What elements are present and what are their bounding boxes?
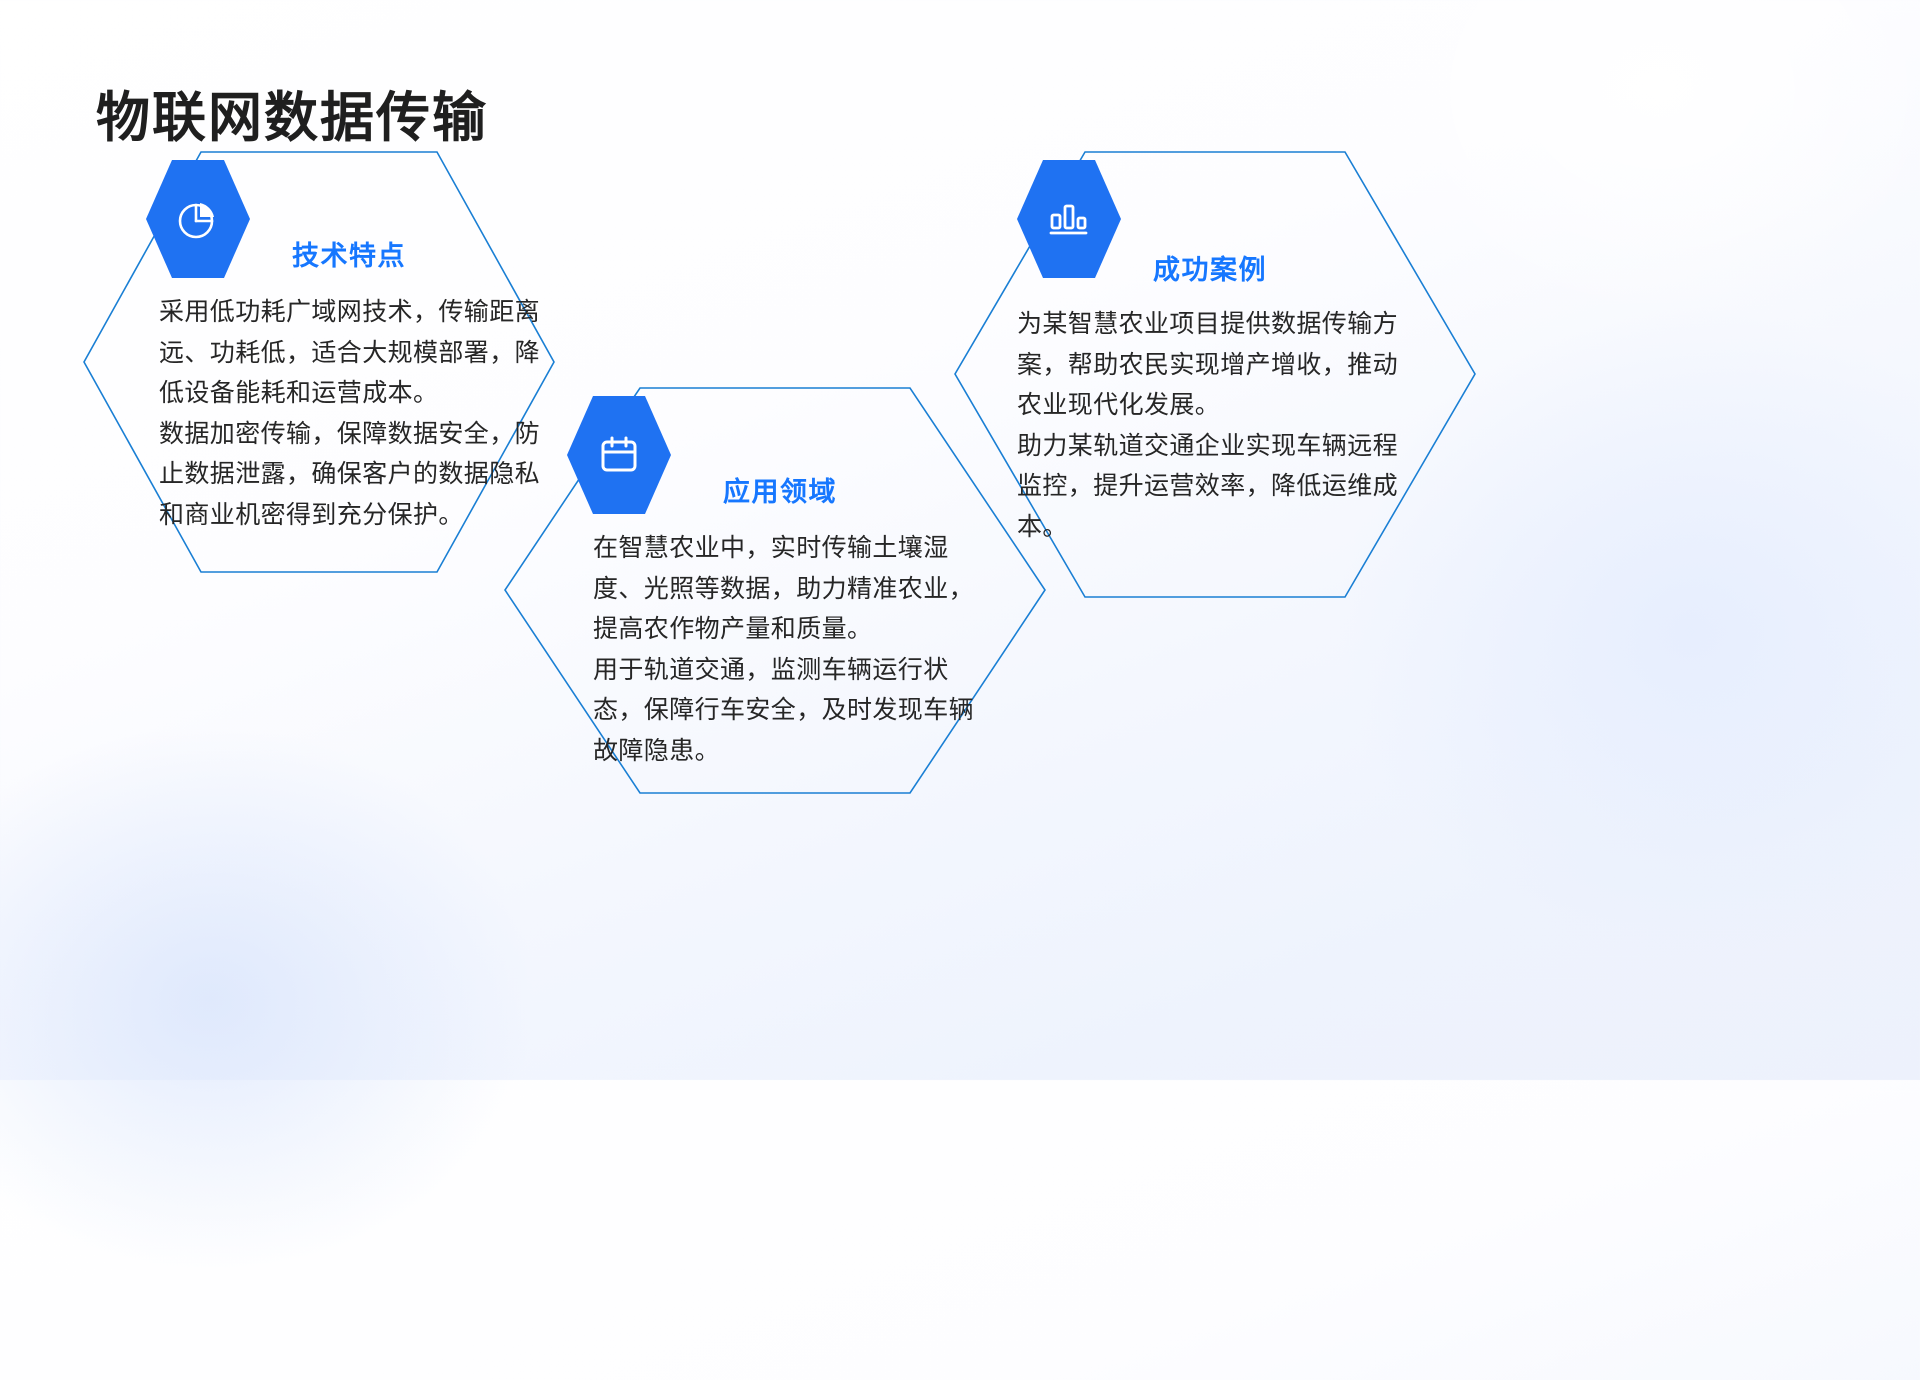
badge-hexagon[interactable]: [567, 396, 671, 514]
bar-chart-icon: [1017, 160, 1121, 278]
page-title: 物联网数据传输: [96, 86, 488, 151]
pie-chart-icon: [146, 160, 250, 278]
badge-hexagon[interactable]: [1017, 160, 1121, 278]
card-title: 技术特点: [292, 234, 406, 273]
badge-hexagon[interactable]: [146, 160, 250, 278]
card-title: 成功案例: [1153, 248, 1267, 287]
card-body-text: 采用低功耗广域网技术，传输距离远、功耗低，适合大规模部署，降低设备能耗和运营成本…: [159, 292, 559, 535]
card-body-text: 在智慧农业中，实时传输土壤湿度、光照等数据，助力精准农业，提高农作物产量和质量。…: [593, 528, 993, 771]
calendar-icon: [567, 396, 671, 514]
card-title: 应用领域: [723, 470, 837, 509]
card-body-text: 为某智慧农业项目提供数据传输方案，帮助农民实现增产增收，推动农业现代化发展。 助…: [1017, 304, 1417, 547]
